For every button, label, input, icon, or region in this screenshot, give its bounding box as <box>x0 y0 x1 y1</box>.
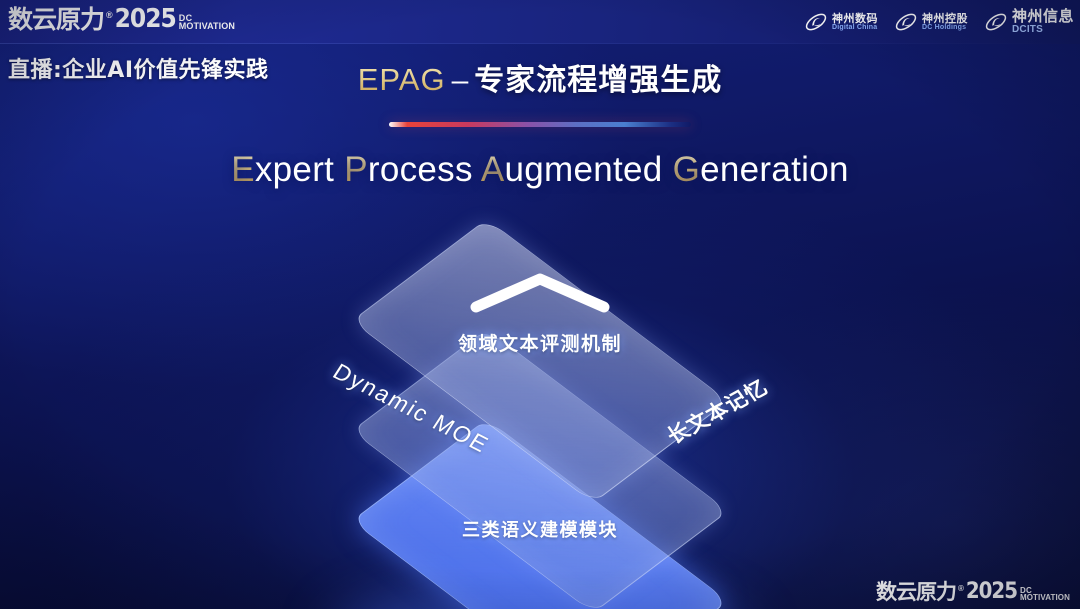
logo-dc-holdings: 神州控股 DC Holdings <box>894 10 968 34</box>
logo-label-cn: 神州信息 <box>1012 9 1074 25</box>
logo-label-cn: 神州控股 <box>922 13 968 25</box>
subtitle-cap-a: A <box>481 150 505 189</box>
watermark-registered-mark: ® <box>958 585 964 593</box>
chevron-up-icon <box>466 269 614 315</box>
subtitle-word-augmented: Augmented <box>481 150 663 189</box>
subtitle-word-generation: Generation <box>673 150 849 189</box>
brand-name-cn: 数云原力 <box>8 7 104 32</box>
subtitle-rest-process: rocess <box>368 150 473 189</box>
watermark-logo: 数云原力 ® 2025 DC MOTIVATION <box>876 581 1070 603</box>
logo-dcits: DCITS 神州信息 <box>984 9 1074 35</box>
title-chinese: 专家流程增强生成 <box>474 63 722 98</box>
subtitle-expanded-acronym: Expert Process Augmented Generation <box>0 150 1080 190</box>
layered-architecture-diagram: 领域文本评测机制 Dynamic MOE 长文本记忆 三类语义建模模块 <box>260 233 820 573</box>
brand-year: 2025 <box>115 6 176 32</box>
logo-label-en: DCITS <box>1012 25 1074 36</box>
swirl-icon <box>804 10 828 34</box>
brand-motivation-text: MOTIVATION <box>179 22 235 31</box>
swirl-icon <box>894 10 918 34</box>
logo-digital-china: 神州数码 Digital China <box>804 10 878 34</box>
subtitle-rest-expert: xpert <box>255 150 334 189</box>
watermark-tagline: DC MOTIVATION <box>1020 587 1070 602</box>
slide-canvas: 数云原力 ® 2025 DC MOTIVATION 直播:企业AI价值先锋实践 … <box>0 0 1080 609</box>
subtitle-word-process: Process <box>344 150 473 189</box>
logo-label-cn: 神州数码 <box>832 13 878 25</box>
logo-digital-china-text: 神州数码 Digital China <box>832 13 878 32</box>
watermark-year: 2025 <box>966 581 1017 603</box>
brand-tagline: DC MOTIVATION <box>179 14 235 31</box>
logo-label-en: DC Holdings <box>922 24 968 31</box>
brand-registered-mark: ® <box>106 11 113 20</box>
layer-label-bottom: 三类语义建模模块 <box>462 516 618 542</box>
title-acronym: EPAG <box>358 62 446 97</box>
title-dash: – <box>452 64 469 97</box>
subtitle-rest-augmented: ugmented <box>505 150 663 189</box>
live-session-title: 直播:企业AI价值先锋实践 <box>8 52 269 84</box>
logo-dc-holdings-text: 神州控股 DC Holdings <box>922 13 968 32</box>
logo-dcits-text: DCITS 神州信息 <box>1012 9 1074 35</box>
partner-logo-group: 神州数码 Digital China 神州控股 DC Holdings <box>804 5 1074 39</box>
watermark-motivation-text: MOTIVATION <box>1020 594 1070 602</box>
subtitle-cap-p: P <box>344 150 368 189</box>
gradient-divider <box>389 122 691 127</box>
brand-logo: 数云原力 ® 2025 DC MOTIVATION <box>8 6 235 32</box>
subtitle-word-expert: Expert <box>231 150 334 189</box>
subtitle-rest-generation: eneration <box>700 150 849 189</box>
subtitle-cap-g: G <box>673 150 701 189</box>
subtitle-cap-e: E <box>231 150 255 189</box>
logo-label-en: Digital China <box>832 24 878 31</box>
watermark-name-cn: 数云原力 <box>876 582 956 603</box>
layer-label-top: 领域文本评测机制 <box>458 329 622 356</box>
swirl-icon <box>984 10 1008 34</box>
